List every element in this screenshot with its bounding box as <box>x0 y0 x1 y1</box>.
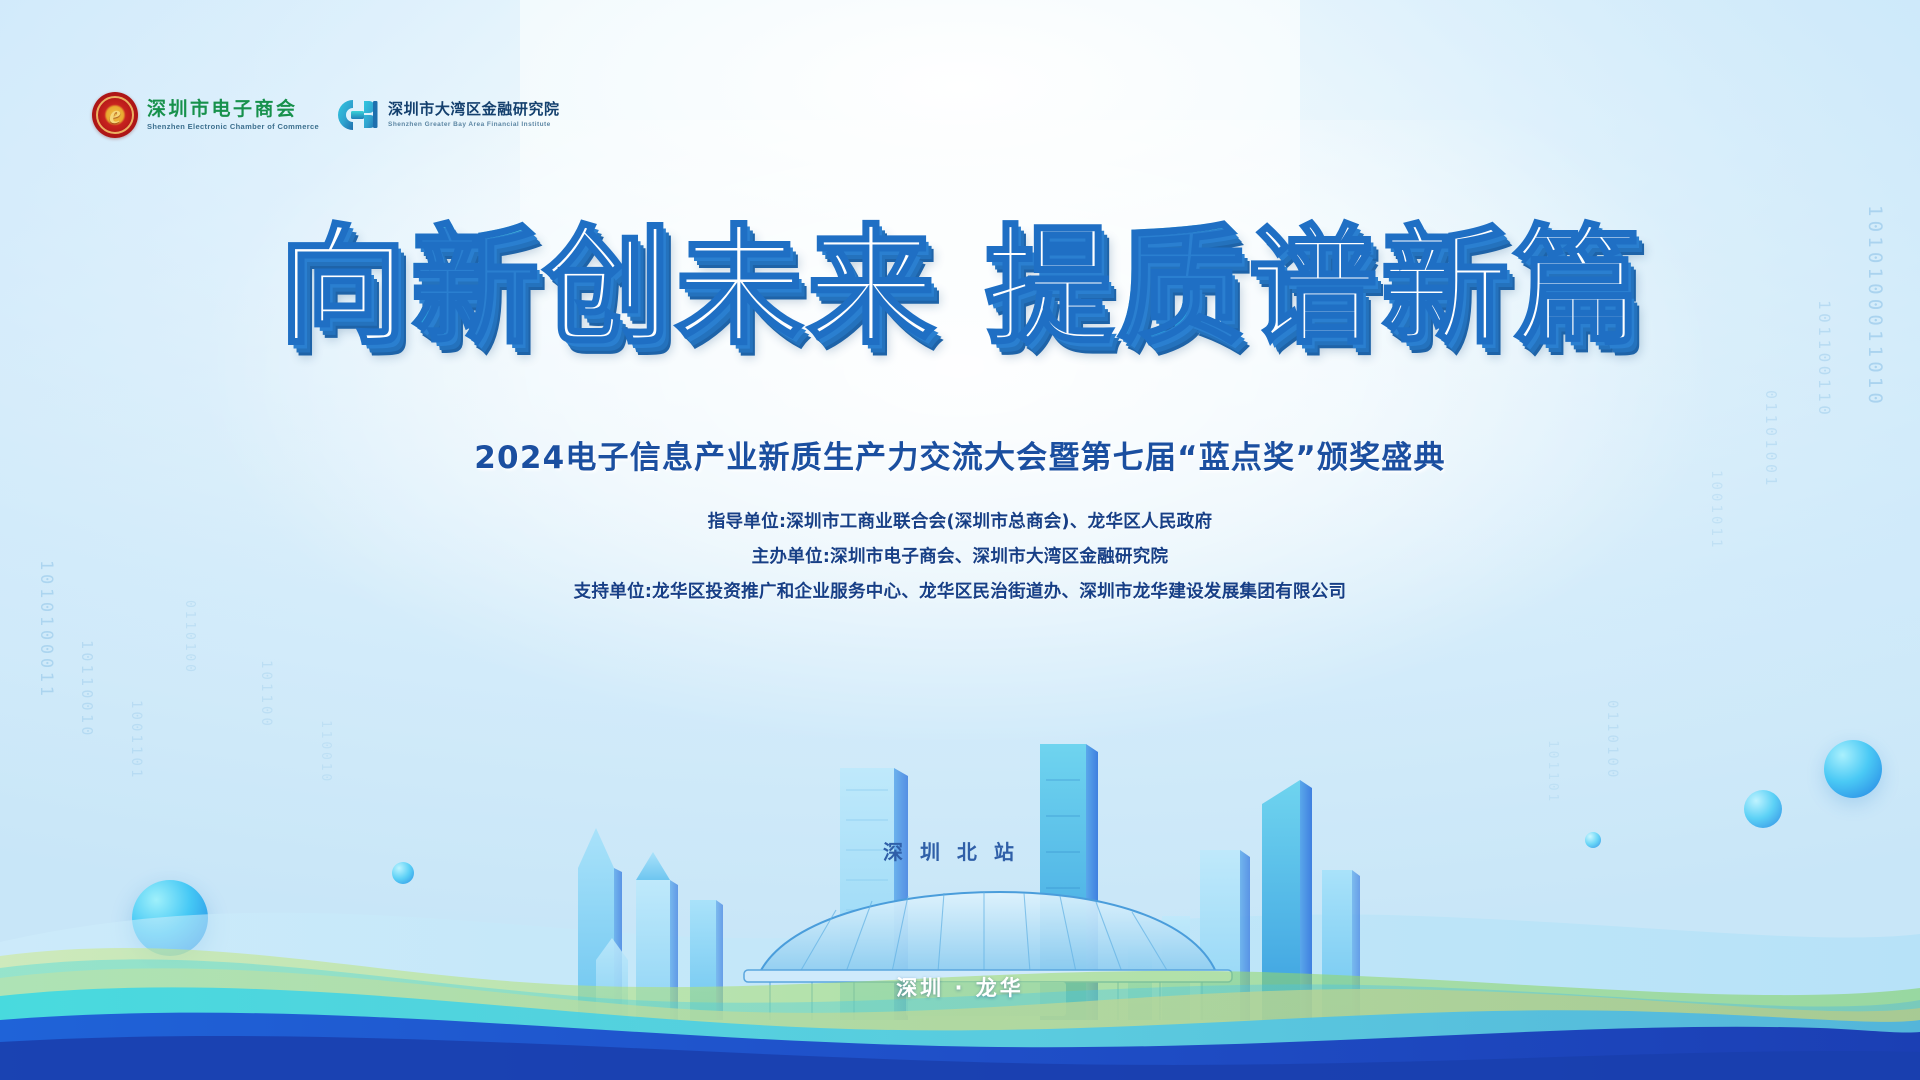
organizer-block: 指导单位:深圳市工商业联合会(深圳市总商会)、龙华区人民政府 主办单位:深圳市电… <box>0 508 1920 603</box>
binary-decor-left-5: 101100 <box>258 660 274 729</box>
logo-gba-financial-institute: 深圳市大湾区金融研究院 Shenzhen Greater Bay Area Fi… <box>337 98 560 132</box>
title-char-4: 未 <box>673 224 805 352</box>
title-char-5: 来 <box>805 224 937 352</box>
red-seal-emblem-icon <box>92 92 138 138</box>
logo-chamber-cn: 深圳市电子商会 <box>147 99 319 120</box>
station-name-label: 深 圳 北 站 <box>883 836 1019 865</box>
title-char-7: 质 <box>1115 224 1247 352</box>
logo-gbi-en: Shenzhen Greater Bay Area Financial Inst… <box>388 121 560 129</box>
poster-canvas: 1010100011 10110010 1001101 0110100 1011… <box>0 0 1920 1080</box>
title-char-9: 新 <box>1379 224 1511 352</box>
binary-decor-left-4: 0110100 <box>182 600 197 675</box>
main-title: 向 新 创 未 来 提 质 谱 新 篇 <box>0 224 1920 352</box>
title-char-8: 谱 <box>1247 224 1379 352</box>
logo-chamber-en: Shenzhen Electronic Chamber of Commerce <box>147 122 319 131</box>
title-char-3: 创 <box>541 224 673 352</box>
organizer-line-guidance: 指导单位:深圳市工商业联合会(深圳市总商会)、龙华区人民政府 <box>708 508 1213 533</box>
location-footer-label: 深圳 · 龙华 <box>0 972 1920 1002</box>
logo-shenzhen-electronic-chamber: 深圳市电子商会 Shenzhen Electronic Chamber of C… <box>92 92 319 138</box>
title-char-10: 篇 <box>1511 224 1643 352</box>
city-skyline-illustration <box>0 720 1920 1080</box>
organizer-line-support: 支持单位:龙华区投资推广和企业服务中心、龙华区民治街道办、深圳市龙华建设发展集团… <box>574 578 1347 603</box>
event-subtitle: 2024电子信息产业新质生产力交流大会暨第七届“蓝点奖”颁奖盛典 <box>0 432 1920 477</box>
title-char-1: 向 <box>277 224 409 352</box>
organizer-line-host: 主办单位:深圳市电子商会、深圳市大湾区金融研究院 <box>752 543 1169 568</box>
logo-row: 深圳市电子商会 Shenzhen Electronic Chamber of C… <box>92 92 560 138</box>
logo-gbi-cn: 深圳市大湾区金融研究院 <box>388 101 560 118</box>
gbi-monogram-icon <box>337 98 379 132</box>
title-char-2: 新 <box>409 224 541 352</box>
title-char-6: 提 <box>983 224 1115 352</box>
